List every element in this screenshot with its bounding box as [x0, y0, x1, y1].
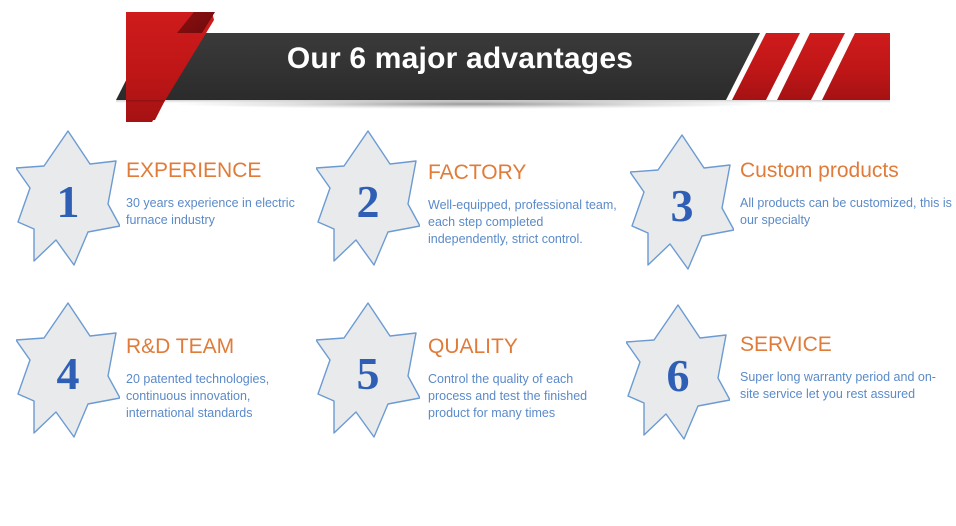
advantage-desc-3: All products can be customized, this is … [740, 195, 955, 229]
banner-title: Our 6 major advantages [180, 40, 740, 78]
advantage-text-4: R&D TEAM 20 patented technologies, conti… [126, 334, 316, 422]
advantage-title-3: Custom products [740, 158, 955, 183]
advantage-title-5: QUALITY [428, 334, 618, 359]
star-number-6: 6 [626, 302, 730, 442]
advantage-card-5[interactable]: 5 QUALITY Control the quality of each pr… [300, 300, 618, 475]
star-number-4: 4 [16, 300, 120, 440]
advantage-desc-6: Super long warranty period and on-site s… [740, 369, 955, 403]
advantage-title-2: FACTORY [428, 160, 618, 185]
star-badge-5: 5 [316, 300, 420, 440]
advantage-card-2[interactable]: 2 FACTORY Well-equipped, professional te… [300, 128, 618, 303]
header-banner: Our 6 major advantages [0, 0, 956, 125]
star-number-2: 2 [316, 128, 420, 268]
advantage-card-1[interactable]: 1 EXPERIENCE 30 years experience in elec… [0, 128, 318, 303]
advantage-title-6: SERVICE [740, 332, 955, 357]
advantage-desc-2: Well-equipped, professional team, each s… [428, 197, 618, 248]
advantage-desc-1: 30 years experience in electric furnace … [126, 195, 316, 229]
advantage-text-1: EXPERIENCE 30 years experience in electr… [126, 158, 316, 229]
advantage-desc-4: 20 patented technologies, continuous inn… [126, 371, 316, 422]
advantage-title-1: EXPERIENCE [126, 158, 316, 183]
advantage-desc-5: Control the quality of each process and … [428, 371, 618, 422]
advantage-card-3[interactable]: 3 Custom products All products can be cu… [608, 128, 926, 303]
star-badge-6: 6 [626, 302, 730, 442]
star-number-1: 1 [16, 128, 120, 268]
advantages-row-2: 4 R&D TEAM 20 patented technologies, con… [0, 300, 956, 475]
star-badge-1: 1 [16, 128, 120, 268]
banner-underline [116, 100, 890, 103]
advantage-text-5: QUALITY Control the quality of each proc… [428, 334, 618, 422]
advantages-grid: 1 EXPERIENCE 30 years experience in elec… [0, 128, 956, 498]
advantage-text-6: SERVICE Super long warranty period and o… [740, 332, 955, 403]
star-badge-3: 3 [630, 132, 734, 272]
advantage-card-6[interactable]: 6 SERVICE Super long warranty period and… [608, 300, 926, 475]
star-number-3: 3 [630, 132, 734, 272]
advantage-title-4: R&D TEAM [126, 334, 316, 359]
advantage-text-3: Custom products All products can be cust… [740, 158, 955, 229]
star-number-5: 5 [316, 300, 420, 440]
advantages-row-1: 1 EXPERIENCE 30 years experience in elec… [0, 128, 956, 303]
advantage-card-4[interactable]: 4 R&D TEAM 20 patented technologies, con… [0, 300, 318, 475]
advantage-text-2: FACTORY Well-equipped, professional team… [428, 160, 618, 248]
star-badge-4: 4 [16, 300, 120, 440]
star-badge-2: 2 [316, 128, 420, 268]
